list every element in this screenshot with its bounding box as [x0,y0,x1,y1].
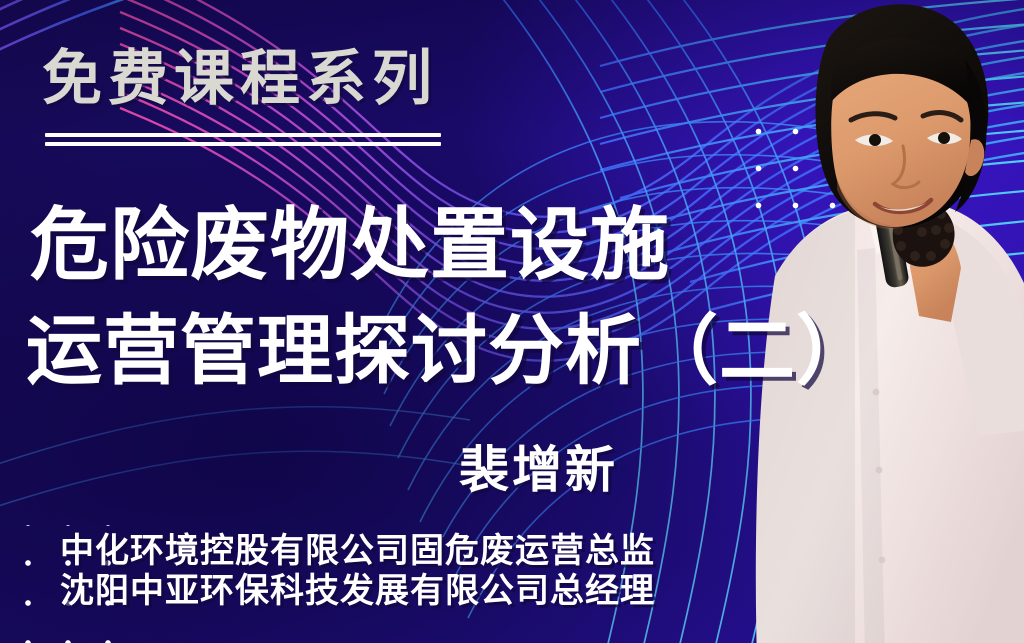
kicker-label: 免费课程系列 [42,48,438,111]
kicker-rule-2 [45,142,441,146]
credential-line-2: 沈阳中亚环保科技发展有限公司总经理 [60,571,655,611]
course-poster: 免费课程系列 危险废物处置设施 运营管理探讨分析（二） 裴增新 中化环境控股有限… [0,0,1024,643]
credential-line-1: 中化环境控股有限公司固危废运营总监 [60,531,655,571]
speaker-name: 裴增新 [459,430,618,502]
page-title-line-1: 危险废物处置设施 [30,204,670,287]
page-title-line-2: 运营管理探讨分析（二） [26,311,873,391]
speaker-credentials: 中化环境控股有限公司固危废运营总监 沈阳中亚环保科技发展有限公司总经理 [60,531,655,611]
kicker-rule-1 [45,133,441,137]
kicker-underline [45,133,441,146]
